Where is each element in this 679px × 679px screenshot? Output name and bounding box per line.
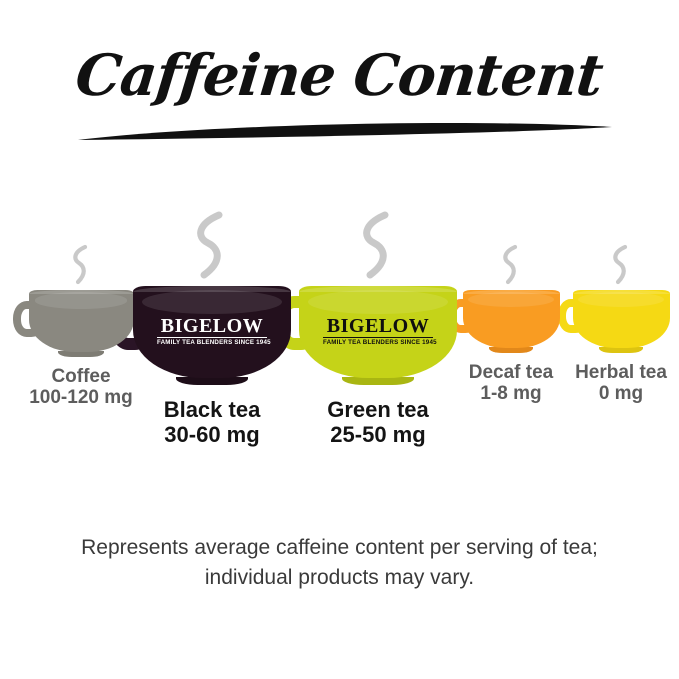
cup-graphic-decaf-tea: [463, 290, 560, 348]
brand-logo-tagline: FAMILY TEA BLENDERS SINCE 1945: [323, 340, 433, 346]
cup-rim: [29, 290, 134, 294]
caption-line-2: individual products may vary.: [0, 563, 679, 593]
footnote-caption: Represents average caffeine content per …: [0, 533, 679, 593]
infographic-page: Caffeine Content Coffee 100-120 mg: [0, 0, 679, 679]
cup-bowl: BIGELOW FAMILY TEA BLENDERS SINCE 1945: [299, 286, 457, 378]
title-swash-underline: [0, 112, 679, 146]
cup-name: Herbal tea: [556, 362, 679, 383]
brand-logo-rule: [157, 337, 267, 338]
cup-label-green-tea: Green tea 25-50 mg: [292, 398, 464, 447]
steam-icon: [496, 244, 526, 286]
cup-graphic-green-tea: BIGELOW FAMILY TEA BLENDERS SINCE 1945: [299, 286, 457, 378]
cup-rim: [573, 290, 670, 294]
cup-graphic-black-tea: BIGELOW FAMILY TEA BLENDERS SINCE 1945: [133, 286, 291, 378]
page-title: Caffeine Content: [73, 46, 605, 106]
cup-rim: [133, 286, 291, 292]
steam-icon: [66, 244, 96, 286]
cup-bowl: [463, 290, 560, 348]
cup-name: Green tea: [292, 398, 464, 423]
cup-graphic-herbal-tea: [573, 290, 670, 348]
brand-logo-name: BIGELOW: [323, 316, 433, 336]
brand-logo-name: BIGELOW: [157, 316, 267, 336]
title-block: Caffeine Content: [0, 46, 679, 106]
cups-row: Coffee 100-120 mg BIGELOW FAMILY TEA BLE…: [0, 206, 679, 506]
cup-value: 30-60 mg: [126, 423, 298, 448]
cup-value: 0 mg: [556, 383, 679, 404]
cup-label-black-tea: Black tea 30-60 mg: [126, 398, 298, 447]
brand-logo-tagline: FAMILY TEA BLENDERS SINCE 1945: [157, 340, 267, 346]
cup-bowl: [29, 290, 134, 352]
brand-logo: BIGELOW FAMILY TEA BLENDERS SINCE 1945: [323, 316, 433, 346]
cup-rim: [299, 286, 457, 292]
brand-logo: BIGELOW FAMILY TEA BLENDERS SINCE 1945: [157, 316, 267, 346]
cup-label-herbal-tea: Herbal tea 0 mg: [556, 362, 679, 405]
steam-icon: [352, 210, 404, 280]
cup-bowl: [573, 290, 670, 348]
cup-foot: [176, 377, 248, 385]
steam-icon: [606, 244, 636, 286]
cup-foot: [342, 377, 414, 385]
cup-bowl: BIGELOW FAMILY TEA BLENDERS SINCE 1945: [133, 286, 291, 378]
cup-unit-black-tea: BIGELOW FAMILY TEA BLENDERS SINCE 1945 B…: [126, 206, 298, 447]
steam-icon: [186, 210, 238, 280]
caption-line-1: Represents average caffeine content per …: [0, 533, 679, 563]
cup-unit-herbal-tea: Herbal tea 0 mg: [556, 244, 679, 405]
cup-graphic-coffee: [29, 290, 134, 352]
cup-unit-green-tea: BIGELOW FAMILY TEA BLENDERS SINCE 1945 G…: [292, 206, 464, 447]
cup-value: 25-50 mg: [292, 423, 464, 448]
cup-rim: [463, 290, 560, 294]
cup-name: Black tea: [126, 398, 298, 423]
brand-logo-rule: [323, 337, 433, 338]
